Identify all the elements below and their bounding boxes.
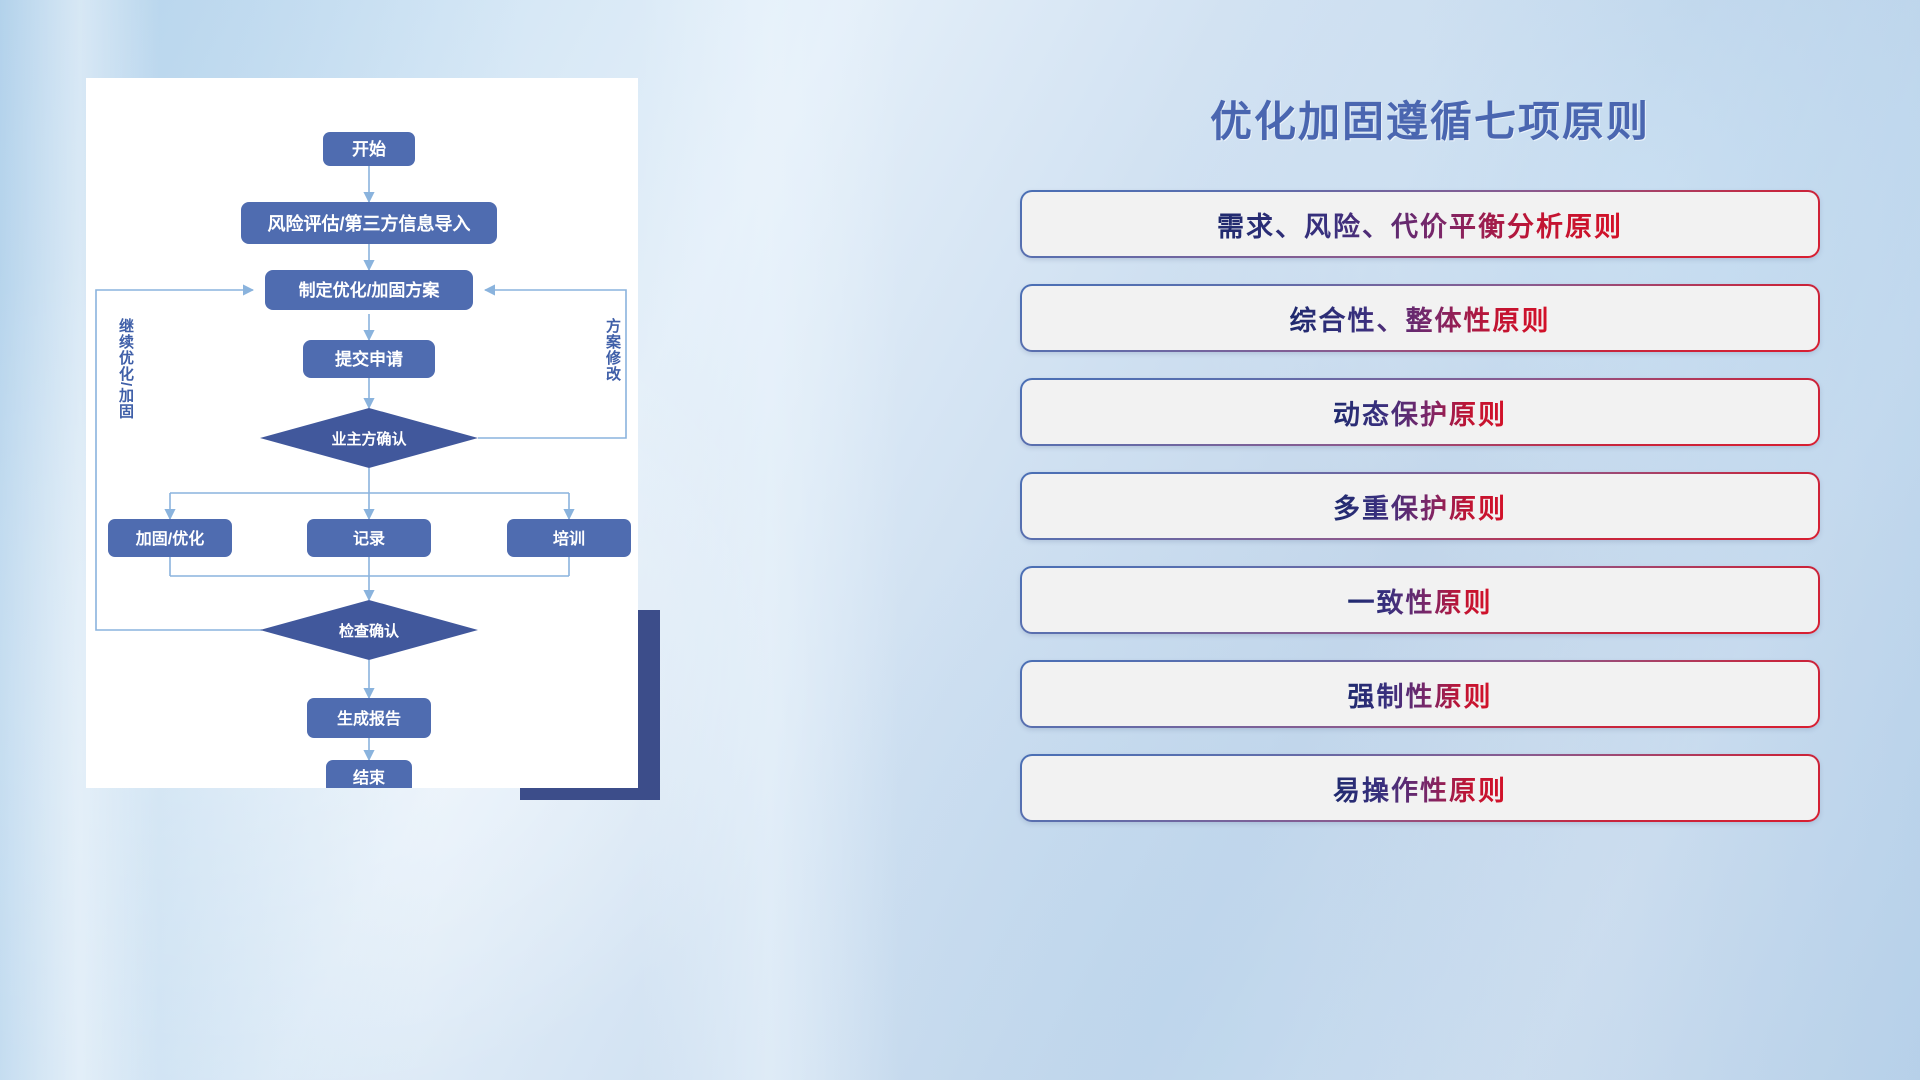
flow-node-reinforce-optimize-label: 加固/优化 bbox=[135, 529, 204, 548]
principle-card-7-inner: 易操作性原则 bbox=[1022, 756, 1818, 820]
principle-card-5[interactable]: 一致性原则 bbox=[1020, 566, 1820, 634]
flow-node-generate-report[interactable]: 生成报告 bbox=[307, 698, 431, 738]
flow-node-risk-assessment[interactable]: 风险评估/第三方信息导入 bbox=[241, 202, 497, 244]
flowchart-canvas: 开始 风险评估/第三方信息导入 制定优化/加固方案 提交申请 业主方确认 加固/… bbox=[86, 78, 638, 788]
principle-card-1-inner: 需求、风险、代价平衡分析原则 bbox=[1022, 192, 1818, 256]
principle-card-5-inner: 一致性原则 bbox=[1022, 568, 1818, 632]
flow-edge-label-continue-optimize: 继续优化/加固 bbox=[118, 318, 133, 419]
flow-node-record[interactable]: 记录 bbox=[307, 519, 431, 557]
flow-node-risk-assessment-label: 风险评估/第三方信息导入 bbox=[268, 213, 471, 234]
principle-card-2-label: 综合性、整体性原则 bbox=[1290, 299, 1551, 338]
principle-card-7[interactable]: 易操作性原则 bbox=[1020, 754, 1820, 822]
flow-node-submit-application-label: 提交申请 bbox=[335, 349, 403, 369]
principle-card-6[interactable]: 强制性原则 bbox=[1020, 660, 1820, 728]
page-title: 优化加固遵循七项原则 bbox=[1020, 88, 1840, 149]
principle-card-4-inner: 多重保护原则 bbox=[1022, 474, 1818, 538]
flow-edge-label-revise-plan: 方案修改 bbox=[605, 318, 620, 382]
flow-node-training-label: 培训 bbox=[553, 529, 585, 548]
principle-card-7-label: 易操作性原则 bbox=[1333, 769, 1507, 808]
flow-node-owner-confirm-label: 业主方确认 bbox=[331, 430, 407, 448]
flow-node-reinforce-optimize[interactable]: 加固/优化 bbox=[108, 519, 232, 557]
flow-node-end[interactable]: 结束 bbox=[326, 760, 412, 788]
flow-node-check-confirm[interactable]: 检查确认 bbox=[260, 600, 478, 660]
flow-node-start[interactable]: 开始 bbox=[323, 132, 415, 166]
principle-card-2[interactable]: 综合性、整体性原则 bbox=[1020, 284, 1820, 352]
principles-pane: 优化加固遵循七项原则 需求、风险、代价平衡分析原则 综合性、整体性原则 动态保护… bbox=[1020, 70, 1840, 1010]
principle-card-6-label: 强制性原则 bbox=[1348, 675, 1493, 714]
principle-card-3-inner: 动态保护原则 bbox=[1022, 380, 1818, 444]
flow-node-submit-application[interactable]: 提交申请 bbox=[303, 340, 435, 378]
flow-node-generate-report-label: 生成报告 bbox=[337, 709, 401, 728]
flow-node-training[interactable]: 培训 bbox=[507, 519, 631, 557]
background-light-streak-mid bbox=[640, 0, 900, 1080]
principle-card-4[interactable]: 多重保护原则 bbox=[1020, 472, 1820, 540]
principle-card-6-inner: 强制性原则 bbox=[1022, 662, 1818, 726]
flow-node-record-label: 记录 bbox=[353, 530, 385, 548]
principle-card-2-inner: 综合性、整体性原则 bbox=[1022, 286, 1818, 350]
flow-node-owner-confirm[interactable]: 业主方确认 bbox=[260, 408, 478, 468]
principle-card-5-label: 一致性原则 bbox=[1348, 581, 1493, 620]
flow-node-start-label: 开始 bbox=[352, 139, 386, 159]
flow-node-make-plan[interactable]: 制定优化/加固方案 bbox=[265, 270, 473, 310]
principle-card-1[interactable]: 需求、风险、代价平衡分析原则 bbox=[1020, 190, 1820, 258]
principle-card-3-label: 动态保护原则 bbox=[1333, 393, 1507, 432]
principle-card-1-label: 需求、风险、代价平衡分析原则 bbox=[1217, 205, 1623, 244]
principle-card-4-label: 多重保护原则 bbox=[1333, 487, 1507, 526]
flow-node-end-label: 结束 bbox=[352, 768, 386, 787]
flow-node-make-plan-label: 制定优化/加固方案 bbox=[299, 280, 441, 300]
principle-card-3[interactable]: 动态保护原则 bbox=[1020, 378, 1820, 446]
flow-node-check-confirm-label: 检查确认 bbox=[339, 622, 400, 640]
principles-list: 需求、风险、代价平衡分析原则 综合性、整体性原则 动态保护原则 多重保护原则 一… bbox=[1020, 190, 1820, 848]
